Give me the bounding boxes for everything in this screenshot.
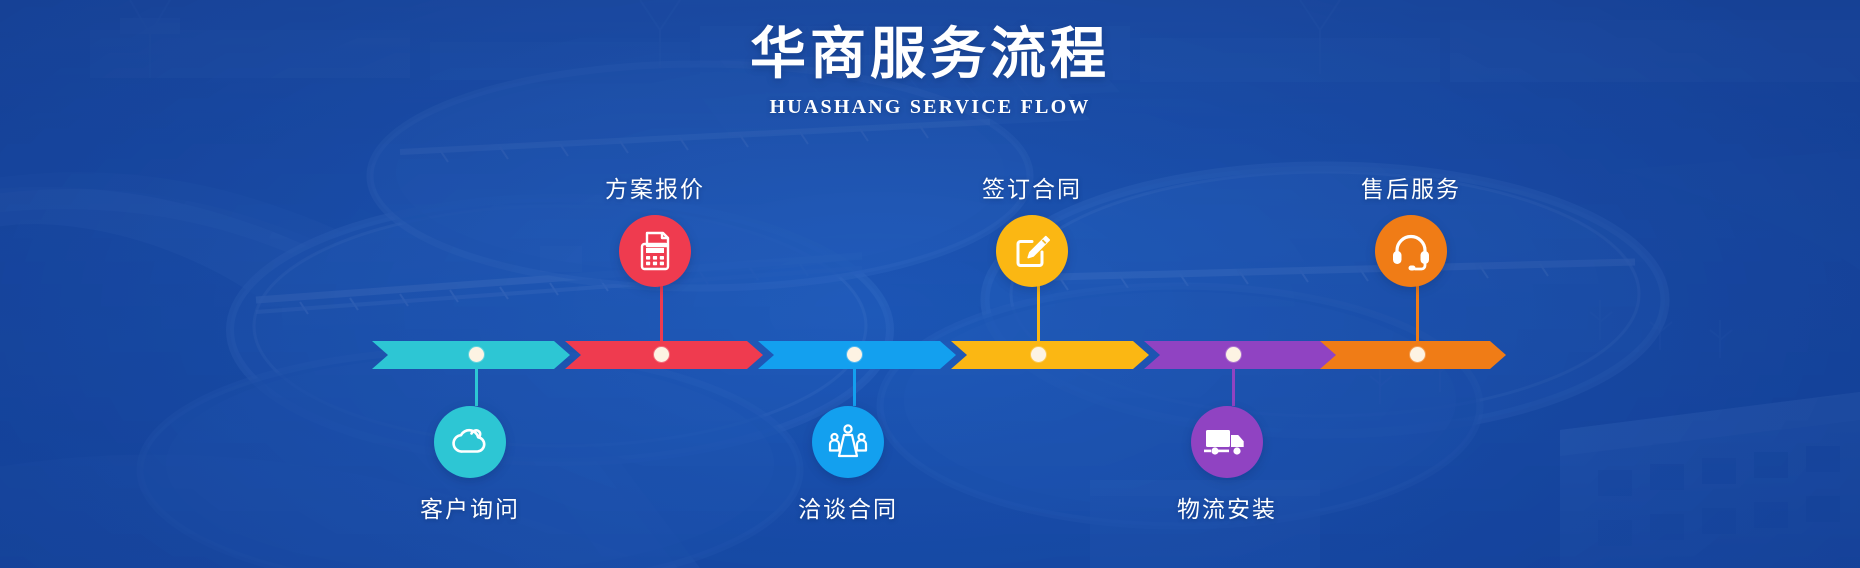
flow-step-dot-3 xyxy=(847,347,862,362)
flow-step-label-3: 洽谈合同 xyxy=(728,490,968,524)
flow-step-label-5: 物流安装 xyxy=(1107,490,1347,524)
contract-sign-pen-icon[interactable] xyxy=(996,215,1068,287)
flow-step-label-6: 售后服务 xyxy=(1291,170,1531,204)
flow-step-6[interactable]: 售后服务 xyxy=(1291,170,1531,287)
flow-step-dot-2 xyxy=(654,347,669,362)
flow-connector-5 xyxy=(1232,355,1235,406)
cloud-chat-icon[interactable] xyxy=(434,406,506,478)
flow-step-label-1: 客户询问 xyxy=(350,490,590,524)
flow-step-dot-5 xyxy=(1226,347,1241,362)
flow-step-1[interactable]: 客户询问 xyxy=(350,406,590,524)
meeting-table-people-icon[interactable] xyxy=(812,406,884,478)
page-subtitle: HUASHANG SERVICE FLOW xyxy=(0,96,1860,119)
flow-step-2[interactable]: 方案报价 xyxy=(535,170,775,287)
headset-support-icon[interactable] xyxy=(1375,215,1447,287)
flow-step-dot-4 xyxy=(1031,347,1046,362)
flow-step-dot-6 xyxy=(1410,347,1425,362)
flow-step-label-4: 签订合同 xyxy=(912,170,1152,204)
flow-connector-3 xyxy=(853,355,856,406)
flow-step-label-2: 方案报价 xyxy=(535,170,775,204)
flow-step-4[interactable]: 签订合同 xyxy=(912,170,1152,287)
flow-step-5[interactable]: 物流安装 xyxy=(1107,406,1347,524)
delivery-truck-icon[interactable] xyxy=(1191,406,1263,478)
flow-connector-1 xyxy=(475,355,478,406)
service-flow-banner: 华商服务流程 HUASHANG SERVICE FLOW 客户询问方案报价洽谈合… xyxy=(0,0,1860,568)
flow-step-chevron-4[interactable] xyxy=(951,341,1149,369)
page-title: 华商服务流程 xyxy=(0,20,1860,90)
flow-step-dot-1 xyxy=(469,347,484,362)
calculator-invoice-icon[interactable] xyxy=(619,215,691,287)
flow-step-chevron-5[interactable] xyxy=(1144,341,1342,369)
flow-step-3[interactable]: 洽谈合同 xyxy=(728,406,968,524)
banner-header: 华商服务流程 HUASHANG SERVICE FLOW xyxy=(0,0,1860,119)
